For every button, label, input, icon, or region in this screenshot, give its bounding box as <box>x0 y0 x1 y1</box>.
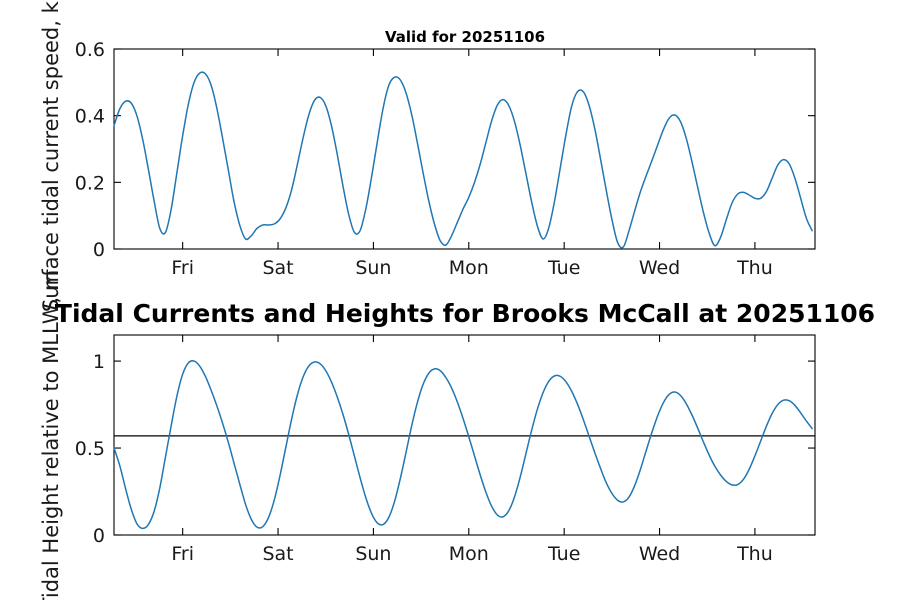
x-tick-label: Fri <box>171 257 194 279</box>
x-tick-label: Wed <box>639 543 680 565</box>
ylabel-current-speed: Surface tidal current speed, kn <box>39 0 63 312</box>
x-tick-label: Sun <box>355 257 391 279</box>
x-tick-label: Sat <box>262 257 293 279</box>
y-tick-label: 0.5 <box>75 438 105 460</box>
y-tick-label: 0 <box>93 239 105 261</box>
page-title: Tidal Currents and Heights for Brooks Mc… <box>55 299 875 328</box>
x-tick-label: Fri <box>171 543 194 565</box>
y-tick-label: 0.2 <box>75 172 105 194</box>
x-tick-label: Mon <box>449 543 489 565</box>
x-tick-label: Sat <box>262 543 293 565</box>
x-tick-label: Thu <box>736 257 773 279</box>
x-tick-label: Mon <box>449 257 489 279</box>
ylabel-tidal-height: Tidal Height relative to MLLW, m <box>39 270 63 600</box>
ylabel-current-speed-text: Surface tidal current speed, kn <box>39 0 63 312</box>
x-tick-label: Wed <box>639 257 680 279</box>
y-tick-label: 1 <box>93 351 105 373</box>
y-tick-label: 0.6 <box>75 39 105 61</box>
x-tick-label: Thu <box>736 543 773 565</box>
x-tick-label: Tue <box>547 543 580 565</box>
y-tick-label: 0 <box>93 525 105 547</box>
y-tick-label: 0.4 <box>75 106 105 128</box>
x-tick-label: Sun <box>355 543 391 565</box>
ylabel-tidal-height-text: Tidal Height relative to MLLW, m <box>39 270 63 600</box>
tidal-figure: Valid for 20251106 Surface tidal current… <box>0 0 900 600</box>
x-tick-label: Tue <box>547 257 580 279</box>
subplot-title-current: Valid for 20251106 <box>385 28 545 46</box>
